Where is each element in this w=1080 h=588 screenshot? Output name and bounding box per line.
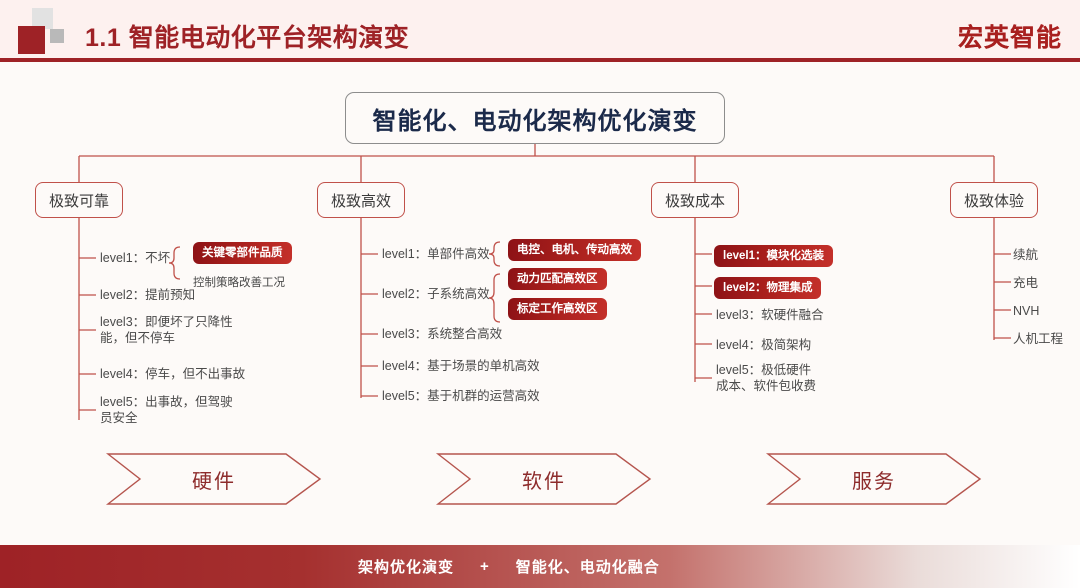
level-item: level2：子系统高效 bbox=[382, 286, 490, 302]
level-item: 人机工程 bbox=[1013, 331, 1063, 347]
level-item: level4：停车，但不出事故 bbox=[100, 366, 245, 382]
level-item: level5：出事故，但驾驶 员安全 bbox=[100, 394, 233, 426]
level-item: level5：基于机群的运营高效 bbox=[382, 388, 540, 404]
level-item: level4：基于场景的单机高效 bbox=[382, 358, 540, 374]
badge-pill: 标定工作高效区 bbox=[508, 298, 607, 320]
level-item-pill: level1：模块化选装 bbox=[714, 245, 833, 267]
pillar-node-efficiency[interactable]: 极致高效 bbox=[317, 182, 405, 218]
level-item: level4：极简架构 bbox=[716, 337, 811, 353]
pillar-node-cost[interactable]: 极致成本 bbox=[651, 182, 739, 218]
level-item: level5：极低硬件 成本、软件包收费 bbox=[716, 362, 816, 394]
badge-pill: 关键零部件品质 bbox=[193, 242, 292, 264]
page-header: 1.1 智能电动化平台架构演变 宏英智能 bbox=[0, 0, 1080, 62]
badge-pill: 动力匹配高效区 bbox=[508, 268, 607, 290]
level-item: level1：不坏 bbox=[100, 250, 170, 266]
level-item: 续航 bbox=[1013, 247, 1038, 263]
level-item: 充电 bbox=[1013, 275, 1038, 291]
badge-pill: 电控、电机、传动高效 bbox=[508, 239, 641, 261]
pillar-node-experience[interactable]: 极致体验 bbox=[950, 182, 1038, 218]
brand-logo: 宏英智能 bbox=[958, 18, 1062, 54]
level-item: level1：单部件高效 bbox=[382, 246, 490, 262]
level-item: level2：提前预知 bbox=[100, 287, 195, 303]
chevron-hardware[interactable]: 硬件 bbox=[108, 454, 320, 504]
level-item: NVH bbox=[1013, 303, 1039, 319]
chevron-label: 硬件 bbox=[108, 454, 320, 504]
page-title: 1.1 智能电动化平台架构演变 bbox=[85, 18, 409, 54]
diagram-canvas: 智能化、电动化架构优化演变 极致可靠 极致高效 极致成本 极致体验 level1… bbox=[0, 62, 1080, 535]
footer-plus-sign: + bbox=[480, 558, 490, 575]
pillar-node-reliability[interactable]: 极致可靠 bbox=[35, 182, 123, 218]
decorative-square-red bbox=[18, 26, 45, 54]
footer-left-text: 架构优化演变 bbox=[358, 556, 454, 577]
level-item: level3：系统整合高效 bbox=[382, 326, 502, 342]
level-item: level3：软硬件融合 bbox=[716, 307, 824, 323]
chevron-label: 服务 bbox=[768, 454, 980, 504]
decorative-square-gray bbox=[50, 29, 64, 43]
footer-content: 架构优化演变 + 智能化、电动化融合 bbox=[0, 545, 1080, 588]
chevron-service[interactable]: 服务 bbox=[768, 454, 980, 504]
chevron-label: 软件 bbox=[438, 454, 650, 504]
level-item: level3：即便坏了只降性 能，但不停车 bbox=[100, 314, 233, 346]
footer-right-text: 智能化、电动化融合 bbox=[516, 556, 660, 577]
level-item-pill: level2：物理集成 bbox=[714, 277, 821, 299]
root-node[interactable]: 智能化、电动化架构优化演变 bbox=[345, 92, 725, 144]
page-footer: 架构优化演变 + 智能化、电动化融合 bbox=[0, 545, 1080, 588]
badge-plain: 控制策略改善工况 bbox=[193, 274, 285, 290]
chevron-software[interactable]: 软件 bbox=[438, 454, 650, 504]
